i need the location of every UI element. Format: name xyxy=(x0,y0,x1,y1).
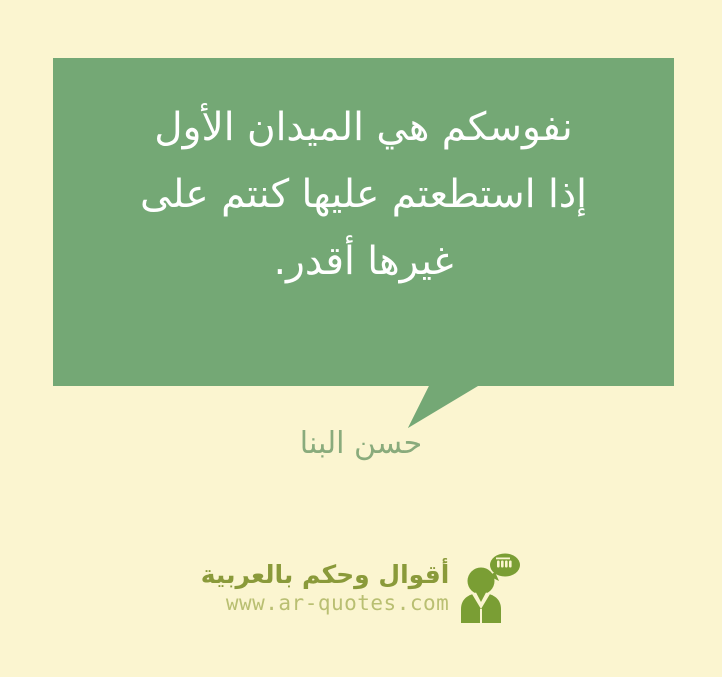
speech-bubble-tail xyxy=(400,384,478,428)
site-logo[interactable]: أقوال وحكم بالعربية www.ar-quotes.com xyxy=(0,553,722,623)
quote-author: حسن البنا xyxy=(0,426,722,461)
logo-text-block: أقوال وحكم بالعربية www.ar-quotes.com xyxy=(201,561,450,615)
logo-url[interactable]: www.ar-quotes.com xyxy=(226,591,449,615)
quote-card: نفوسكم هي الميدان الأول إذا استطعتم عليه… xyxy=(53,58,674,386)
quote-text: نفوسكم هي الميدان الأول إذا استطعتم عليه… xyxy=(83,94,644,295)
logo-arabic-title: أقوال وحكم بالعربية xyxy=(201,561,450,590)
person-speech-bubble-icon xyxy=(459,553,521,623)
